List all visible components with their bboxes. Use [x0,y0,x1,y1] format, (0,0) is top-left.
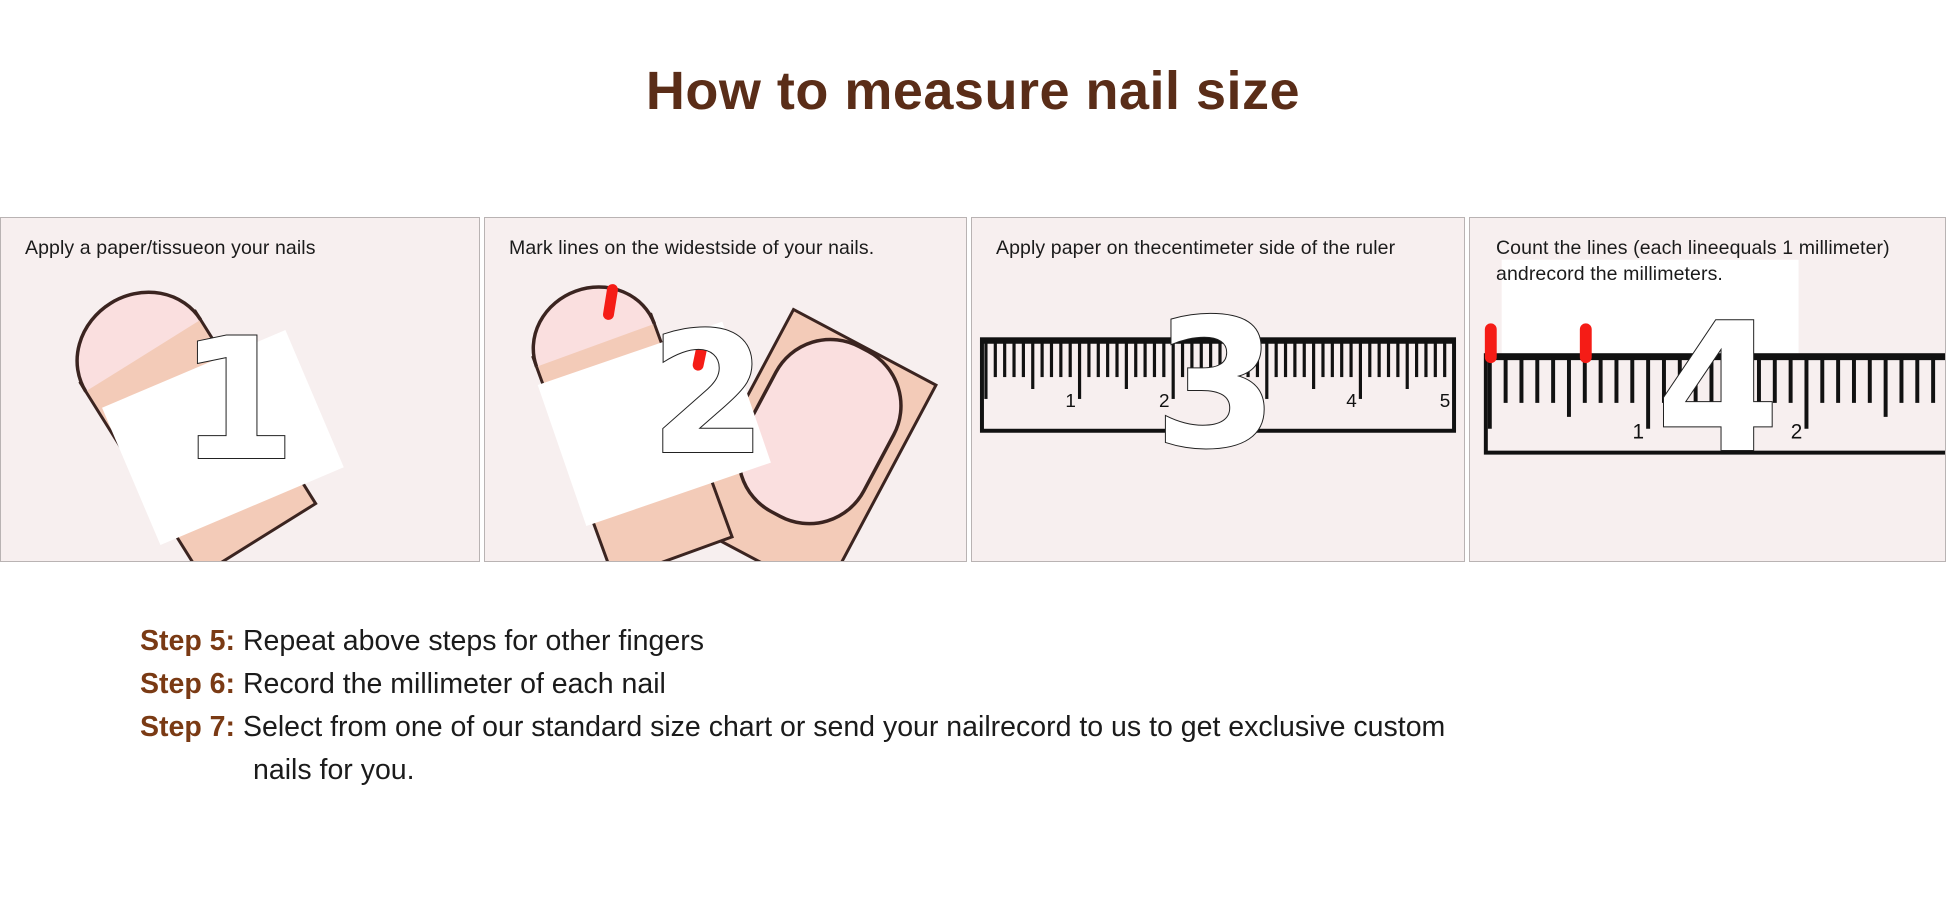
panel-3-caption: Apply paper on thecentimeter side of the… [996,236,1450,262]
panel-4-caption: Count the lines (each lineequals 1 milli… [1496,236,1937,287]
panel-2-caption: Mark lines on the widestside of your nai… [509,236,952,262]
ruler-3-label-5: 5 [1440,391,1451,412]
panel-1-caption: Apply a paper/tissueon your nails [25,236,465,262]
panel-step-3: Apply paper on thecentimeter side of the… [971,217,1465,562]
step-7: Step 7: Select from one of our standard … [140,706,1840,792]
step-6: Step 6: Record the millimeter of each na… [140,663,1840,706]
step-6-text: Record the millimeter of each nail [243,668,666,700]
step-5-label: Step 5: [140,625,235,657]
step-7-text: Select from one of our standard size cha… [243,711,1445,743]
panel-step-4: Count the lines (each lineequals 1 milli… [1469,217,1946,562]
panel-2-numeral: 2 [650,310,767,478]
ruler-3-label-1: 1 [1065,391,1076,412]
ruler-4-label-1: 1 [1632,421,1644,444]
step-5-text: Repeat above steps for other fingers [243,625,704,657]
panel-4-numeral: 4 [1656,300,1780,478]
step-6-label: Step 6: [140,668,235,700]
panel-4-caption-line-2: andrecord the millimeters. [1496,262,1937,288]
step-5: Step 5: Repeat above steps for other fin… [140,620,1840,663]
panel-3-numeral: 3 [1154,296,1278,474]
ruler-4-label-2: 2 [1791,421,1803,444]
panel-4-caption-line-1: Count the lines (each lineequals 1 milli… [1496,236,1937,262]
panel-step-1: Apply a paper/tissueon your nails 1 [0,217,480,562]
step-7-continuation: nails for you. [140,749,1840,792]
panel-1-numeral: 1 [179,316,296,484]
page-title: How to measure nail size [0,60,1946,122]
step-7-label: Step 7: [140,711,235,743]
panel-step-2: Mark lines on the widestside of your nai… [484,217,967,562]
steps-list: Step 5: Repeat above steps for other fin… [140,620,1840,792]
ruler-3-label-4: 4 [1346,391,1357,412]
steps-panel-strip: Apply a paper/tissueon your nails 1 Mark… [0,217,1946,562]
